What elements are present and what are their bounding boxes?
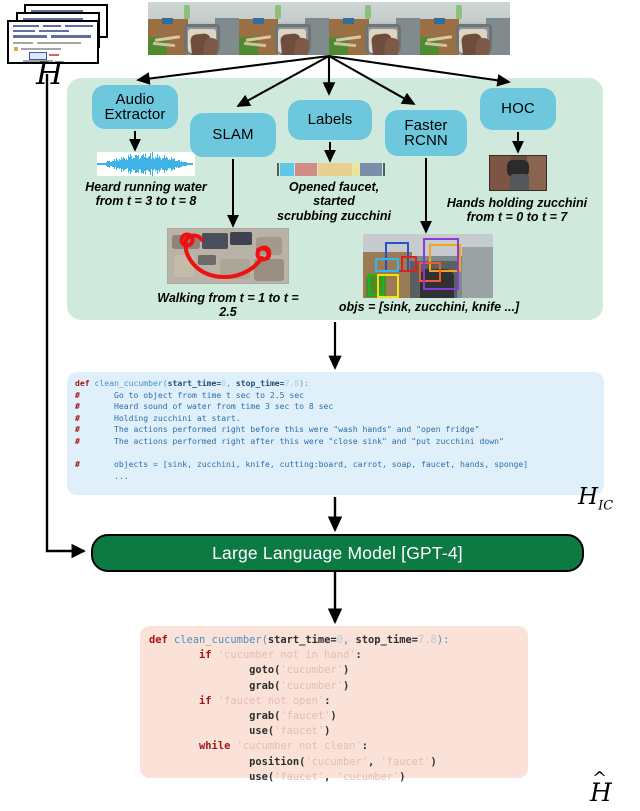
code-token: Go to object from time t sec to 2.5 sec	[80, 390, 304, 400]
video-frames	[148, 2, 510, 55]
code-token: 'faucet'	[380, 756, 430, 768]
code-token: start_time=	[268, 634, 337, 646]
caption-slam: Walking from t = 1 to t = 2.5	[152, 291, 304, 320]
video-frame	[239, 2, 330, 55]
code-token	[149, 725, 249, 737]
code-line: # The actions performed right before thi…	[75, 424, 604, 436]
code-line: if 'faucet not open':	[149, 694, 528, 709]
code-token	[149, 649, 199, 661]
code-token: 'cucumber not in hand'	[218, 649, 356, 661]
video-frame	[420, 2, 511, 55]
code-token: 'cucumber'	[337, 771, 400, 783]
code-token: :	[324, 695, 330, 707]
label-H-hat: H	[590, 778, 612, 807]
code-line: ...	[75, 471, 604, 483]
code-token	[149, 664, 249, 676]
caption-audio: Heard running waterfrom t = 3 to t = 8	[78, 180, 214, 209]
code-token: def	[149, 634, 174, 646]
code-token: 'cucumber'	[280, 664, 343, 676]
code-token: The actions performed right before this …	[80, 424, 480, 434]
code-line: # Go to object from time t sec to 2.5 se…	[75, 390, 604, 402]
code-token: goto(	[249, 664, 280, 676]
context-code-block: def clean_cucumber(start_time=0, stop_ti…	[67, 372, 604, 495]
code-line: def clean_cucumber(start_time=0, stop_ti…	[75, 378, 604, 390]
code-line: use('faucet')	[149, 724, 528, 739]
code-line: # objects = [sink, zucchini, knife, cutt…	[75, 459, 604, 471]
module-slam[interactable]: SLAM	[190, 113, 276, 157]
code-token: )	[330, 710, 336, 722]
code-line: if 'cucumber not in hand':	[149, 648, 528, 663]
code-token: 7.8	[285, 378, 300, 388]
code-token: 'cucumber'	[305, 756, 368, 768]
generated-code-block: def clean_cucumber(start_time=0, stop_ti…	[140, 626, 528, 778]
code-token: 7.8	[418, 634, 437, 646]
video-frame	[329, 2, 420, 55]
code-line: # Holding zucchini at start.	[75, 413, 604, 425]
label-segment	[277, 163, 279, 176]
audio-waveform	[97, 152, 195, 176]
code-token	[149, 710, 249, 722]
code-token	[149, 756, 249, 768]
module-label: AudioExtractor	[105, 92, 166, 123]
code-token: ):	[437, 634, 450, 646]
code-token: Holding zucchini at start.	[80, 413, 241, 423]
code-token: ):	[299, 378, 309, 388]
code-token: 'faucet not open'	[218, 695, 324, 707]
caption-hoc: Hands holding zucchinifrom t = 0 to t = …	[441, 196, 593, 225]
code-line: grab('cucumber')	[149, 679, 528, 694]
code-line	[75, 448, 604, 460]
code-token: objects = [sink, zucchini, knife, cuttin…	[80, 459, 528, 469]
code-token: ,	[324, 771, 337, 783]
module-audio-extractor[interactable]: AudioExtractor	[92, 85, 178, 129]
code-token: def	[75, 378, 95, 388]
code-token: ,	[343, 634, 356, 646]
code-line: position('cucumber', 'faucet')	[149, 755, 528, 770]
code-line: # The actions performed right after this…	[75, 436, 604, 448]
code-line: # Heard sound of water from time 3 sec t…	[75, 401, 604, 413]
code-token: 'cucumber not clean'	[237, 740, 362, 752]
module-label: Labels	[308, 112, 353, 127]
code-token: :	[362, 740, 368, 752]
code-line: def clean_cucumber(start_time=0, stop_ti…	[149, 633, 528, 648]
llm-label: Large Language Model [GPT-4]	[212, 543, 463, 564]
code-token: clean_cucumber(	[174, 634, 268, 646]
code-token: ...	[75, 471, 129, 481]
code-token: )	[343, 664, 349, 676]
code-token	[149, 695, 199, 707]
label-segment	[353, 163, 359, 176]
code-line: use('faucet', 'cucumber')	[149, 770, 528, 785]
code-token: if	[199, 695, 218, 707]
code-token: if	[199, 649, 218, 661]
code-token: 'cucumber'	[280, 680, 343, 692]
label-segment	[280, 163, 294, 176]
code-token	[149, 740, 199, 752]
code-token	[75, 448, 80, 458]
caption-labels: Opened faucet, startedscrubbing zucchini	[270, 180, 398, 223]
slam-map-image	[167, 228, 289, 284]
code-token: grab(	[249, 680, 280, 692]
code-token: position(	[249, 756, 305, 768]
code-token: stop_time=	[236, 378, 285, 388]
code-token: stop_time=	[355, 634, 418, 646]
code-token: ,	[226, 378, 236, 388]
code-token: 'faucet'	[274, 725, 324, 737]
module-faster-rcnn[interactable]: FasterRCNN	[385, 110, 467, 156]
code-token: )	[324, 725, 330, 737]
code-token: ,	[368, 756, 381, 768]
label-segment	[383, 163, 385, 176]
code-token: Heard sound of water from time 3 sec to …	[80, 401, 333, 411]
code-token	[149, 680, 249, 692]
module-labels[interactable]: Labels	[288, 100, 372, 140]
code-token: use(	[249, 771, 274, 783]
code-token: The actions performed right after this w…	[80, 436, 504, 446]
waveform-bar	[192, 163, 193, 165]
code-line: while 'cucumber not clean':	[149, 739, 528, 754]
label-segment	[295, 163, 317, 176]
object-detection-image	[363, 234, 493, 298]
code-token: while	[199, 740, 237, 752]
code-token: 'faucet'	[274, 771, 324, 783]
code-token	[149, 771, 249, 783]
code-token: start_time=	[168, 378, 222, 388]
module-hoc[interactable]: HOC	[480, 88, 556, 130]
label-H-IC: HIC	[578, 484, 613, 514]
llm-bar[interactable]: Large Language Model [GPT-4]	[91, 534, 584, 572]
code-line: goto('cucumber')	[149, 663, 528, 678]
module-label: HOC	[501, 101, 535, 116]
label-H: H	[36, 56, 63, 92]
video-frame	[148, 2, 239, 55]
code-token: clean_cucumber(	[95, 378, 168, 388]
code-token: :	[355, 649, 361, 661]
label-segment	[318, 163, 352, 176]
action-label-strip	[277, 163, 389, 176]
label-segment	[360, 163, 382, 176]
code-line: grab('faucet')	[149, 709, 528, 724]
hand-object-contact-image	[489, 155, 547, 191]
module-label: FasterRCNN	[404, 118, 448, 149]
code-token: 'faucet'	[280, 710, 330, 722]
code-token: use(	[249, 725, 274, 737]
code-token: )	[343, 680, 349, 692]
code-token: )	[399, 771, 405, 783]
code-token: grab(	[249, 710, 280, 722]
code-token: )	[431, 756, 437, 768]
module-label: SLAM	[212, 127, 253, 142]
caption-rcnn: objs = [sink, zucchini, knife ...]	[338, 300, 520, 314]
